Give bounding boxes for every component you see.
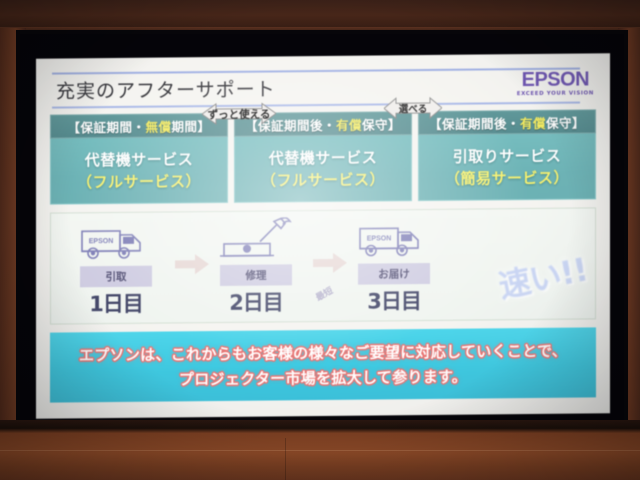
wall-upper <box>0 0 640 34</box>
delivery-truck-icon: EPSON <box>357 216 431 261</box>
column-header: 【保証期間後・有償保守】 <box>418 109 596 135</box>
timeline-step-3: EPSON お届け 3日目 <box>339 216 449 316</box>
double-arrow-label: 選べる <box>384 95 442 122</box>
fast-emphasis-text: 速い!! <box>494 244 590 307</box>
repair-timeline-panel: EPSON 引取 1日目 <box>50 207 596 324</box>
service-name: 代替機サービス <box>269 146 378 168</box>
service-name: 代替機サービス <box>85 148 194 170</box>
epson-logo: EPSON EXCEED YOUR VISION <box>517 69 594 97</box>
column-header-text: 【保証期間後・有償保守】 <box>429 112 585 132</box>
page-title: 充実のアフターサポート <box>56 74 276 103</box>
column-header-text: 【保証期間・無償期間】 <box>67 116 210 136</box>
right-arrow-icon-2 <box>313 251 347 275</box>
banner-line-1: エプソンは、これからもお客様の様々なご要望に対応していくことで、 <box>79 340 567 366</box>
banner-line-2: プロジェクター市場を拡大して参ります。 <box>179 366 467 390</box>
closing-message-banner: エプソンは、これからもお客様の様々なご要望に対応していくことで、 プロジェクター… <box>50 327 596 402</box>
column-body: 代替機サービス （フルサービス） <box>234 135 412 203</box>
step-badge-label: お届け <box>378 266 410 281</box>
step-badge: お届け <box>358 263 430 285</box>
projection-scene: 充実のアフターサポート EPSON EXCEED YOUR VISION 【保証… <box>0 0 640 480</box>
double-arrow-label: ずっと使える <box>202 100 276 127</box>
epson-tagline: EXCEED YOUR VISION <box>517 90 594 97</box>
presentation-slide: 充実のアフターサポート EPSON EXCEED YOUR VISION 【保証… <box>36 53 610 419</box>
service-columns: 【保証期間・無償期間】 代替機サービス （フルサービス） 【保証期間後・有償保守… <box>50 109 596 204</box>
projector-repair-icon <box>214 217 298 262</box>
step-badge: 修理 <box>220 264 292 286</box>
shortest-time-note: 最短 <box>313 283 335 303</box>
double-arrow-icon-always-usable: ずっと使える <box>202 100 276 127</box>
step-badge-label: 修理 <box>246 268 267 283</box>
step-day-label: 2日目 <box>229 286 283 317</box>
svg-text:EPSON: EPSON <box>367 235 392 242</box>
step-day-label: 3日目 <box>367 285 421 316</box>
step-badge-label: 引取 <box>106 269 127 284</box>
title-rule-top <box>52 68 580 75</box>
service-type: （フルサービス） <box>261 168 385 190</box>
timeline-step-2: 修理 2日目 <box>201 217 311 317</box>
delivery-truck-icon: EPSON <box>79 219 153 264</box>
service-name: 引取りサービス <box>453 145 562 167</box>
service-type: （フルサービス） <box>77 170 201 192</box>
service-type: （簡易サービス） <box>445 167 569 189</box>
timeline-steps: EPSON 引取 1日目 <box>51 208 595 323</box>
step-badge: 引取 <box>80 266 152 288</box>
right-arrow-icon-1 <box>175 252 209 276</box>
epson-wordmark: EPSON <box>517 69 594 90</box>
column-body: 代替機サービス （フルサービス） <box>50 137 228 205</box>
timeline-step-1: EPSON 引取 1日目 <box>61 218 171 318</box>
service-column-3: 【保証期間後・有償保守】 引取りサービス （簡易サービス） <box>418 109 596 201</box>
svg-text:EPSON: EPSON <box>89 238 114 245</box>
column-body: 引取りサービス （簡易サービス） <box>418 133 596 201</box>
step-day-label: 1日目 <box>89 288 143 319</box>
double-arrow-icon-selectable: 選べる <box>384 95 442 122</box>
wall-lower <box>0 420 640 480</box>
